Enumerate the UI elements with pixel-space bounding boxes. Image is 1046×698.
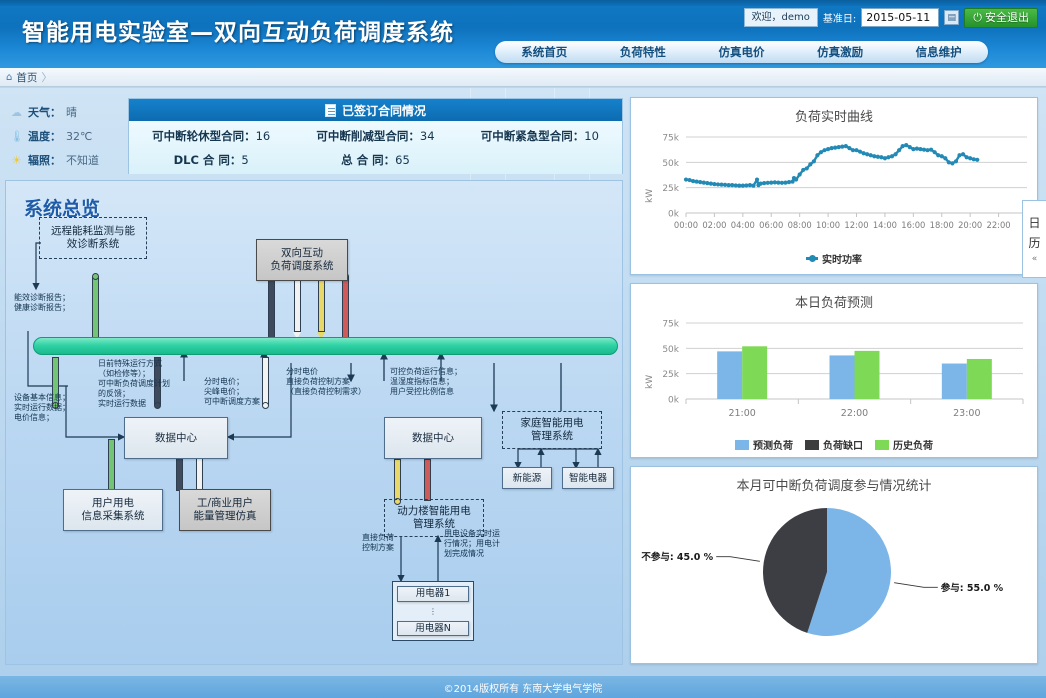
- chart-card-load-forecast: 本日负荷预测 kW 0k25k50k75k21:0022:0023:00 预测负…: [630, 283, 1038, 458]
- legend-swatch-forecast: [735, 440, 749, 450]
- box-power-building-system-label: 动力楼智能用电 管理系统: [397, 505, 471, 531]
- svg-text:00:00: 00:00: [674, 220, 698, 230]
- svg-text:50k: 50k: [662, 345, 679, 355]
- svg-text:18:00: 18:00: [930, 220, 954, 230]
- box-smart-appliance[interactable]: 智能电器: [562, 467, 614, 489]
- logout-label: 安全退出: [985, 11, 1029, 25]
- box-home-smart-power-system-label: 家庭智能用电 管理系统: [521, 417, 584, 443]
- svg-text:25k: 25k: [662, 184, 679, 194]
- contract-rotational: 可中断轮休型合同：16: [129, 124, 293, 148]
- chart-plot-load-forecast: kW 0k25k50k75k21:0022:0023:00: [631, 311, 1039, 429]
- note-diagnosis-reports: 能效诊断报告； 健康诊断报告；: [14, 293, 84, 313]
- svg-text:0k: 0k: [668, 210, 680, 220]
- base-date-input[interactable]: 2015-05-11: [861, 8, 939, 27]
- chart-legend-realtime-load: 实时功率: [631, 251, 1037, 266]
- irradiance-label: 辐照：: [28, 152, 61, 168]
- box-data-center-left-label: 数据中心: [155, 432, 197, 445]
- contract-spacer: [458, 148, 622, 172]
- legend-item-history-load[interactable]: 历史负荷: [875, 437, 933, 452]
- nav-item-load-char[interactable]: 负荷特性: [594, 44, 693, 60]
- breadcrumb-separator: 〉: [41, 69, 52, 85]
- box-bidirectional-dispatch[interactable]: 双向互动 负荷调度系统: [256, 239, 348, 281]
- contract-rotational-value: 16: [256, 129, 271, 143]
- bus-pin-yellow: [318, 277, 325, 332]
- legend-label-realtime-power: 实时功率: [822, 251, 862, 266]
- copyright-text: ©2014版权所有 东南大学电气学院: [444, 680, 603, 695]
- main-navigation: 系统首页 负荷特性 仿真电价 仿真激励 信息维护: [495, 41, 988, 63]
- bus-pin-green-left: [92, 277, 99, 339]
- legend-label-history-load: 历史负荷: [893, 437, 933, 452]
- svg-text:23:00: 23:00: [953, 408, 980, 419]
- legend-marker-line: [806, 257, 818, 260]
- svg-text:10:00: 10:00: [816, 220, 840, 230]
- box-industrial-energy-sim[interactable]: 工/商业用户 能量管理仿真: [179, 489, 271, 531]
- calendar-icon[interactable]: ▤: [944, 10, 959, 25]
- welcome-label: 欢迎，demo: [744, 8, 818, 27]
- contract-row-1: 可中断轮休型合同：16 可中断削减型合同：34 可中断紧急型合同：10: [129, 124, 622, 148]
- exit-icon: ⏻: [973, 11, 982, 25]
- contract-total-value: 65: [395, 153, 410, 167]
- home-icon: ⌂: [6, 72, 12, 83]
- box-data-center-left[interactable]: 数据中心: [124, 417, 228, 459]
- weather-panel: ☁ 天气： 晴 🌡 温度： 32℃ ☀ 辐照： 不知道: [4, 97, 124, 175]
- legend-item-realtime-power[interactable]: 实时功率: [806, 251, 862, 266]
- svg-text:16:00: 16:00: [901, 220, 925, 230]
- bus-pin-white: [294, 277, 301, 332]
- svg-text:75k: 75k: [662, 134, 679, 144]
- contract-panel: 已签订合同情况 可中断轮休型合同：16 可中断削减型合同：34 可中断紧急型合同…: [128, 98, 623, 174]
- contract-emergency-label: 可中断紧急型合同：: [481, 129, 585, 143]
- contract-emergency-value: 10: [584, 129, 599, 143]
- base-date-label: 基准日:: [823, 10, 856, 25]
- svg-text:25k: 25k: [662, 370, 679, 380]
- breadcrumb-home[interactable]: 首页: [16, 70, 37, 85]
- note-tou-direct-control: 分时电价 直接负荷控制方案 （直接负荷控制需求）: [286, 367, 370, 397]
- chart-legend-load-forecast: 预测负荷 负荷缺口 历史负荷: [631, 437, 1037, 452]
- calendar-tab-char-1: 日: [1028, 214, 1040, 231]
- note-tou-price-left: 分时电价； 尖峰电价； 可中断调度方案: [204, 377, 282, 407]
- box-appliance-group: 用电器1 ⋮ 用电器N: [392, 581, 474, 641]
- contract-total: 总 合 同：65: [293, 148, 457, 172]
- temperature-label: 温度：: [28, 128, 61, 144]
- weather-label: 天气：: [28, 104, 61, 120]
- weather-row-temperature: 🌡 温度： 32℃: [10, 128, 124, 144]
- legend-swatch-history: [875, 440, 889, 450]
- svg-text:50k: 50k: [662, 159, 679, 169]
- svg-text:参与: 55.0 %: 参与: 55.0 %: [940, 582, 1004, 594]
- page-title: 智能用电实验室—双向互动负荷调度系统: [22, 13, 454, 47]
- svg-text:0k: 0k: [668, 396, 680, 406]
- box-appliance-n-label: 用电器N: [415, 622, 451, 635]
- svg-text:22:00: 22:00: [987, 220, 1011, 230]
- box-appliance-n[interactable]: 用电器N: [397, 621, 469, 637]
- system-overview-diagram: 系统总览: [5, 180, 623, 665]
- chart-ylabel-realtime-load: kW: [645, 189, 655, 203]
- contract-row-2: DLC 合 同：5 总 合 同：65: [129, 148, 622, 172]
- contract-dlc-value: 5: [241, 153, 248, 167]
- document-icon: [325, 104, 336, 117]
- chart-title-realtime-load: 负荷实时曲线: [631, 98, 1037, 125]
- weather-row-condition: ☁ 天气： 晴: [10, 104, 124, 120]
- svg-text:75k: 75k: [662, 320, 679, 330]
- chart-title-load-forecast: 本日负荷预测: [631, 284, 1037, 311]
- legend-item-forecast-load[interactable]: 预测负荷: [735, 437, 793, 452]
- pin-collect-green: [108, 439, 115, 491]
- chart-svg-load-forecast: 0k25k50k75k21:0022:0023:00: [631, 311, 1039, 429]
- nav-item-home[interactable]: 系统首页: [495, 44, 594, 60]
- svg-text:21:00: 21:00: [728, 408, 755, 419]
- user-toolbar: 欢迎，demo 基准日: 2015-05-11 ▤ ⏻ 安全退出: [744, 8, 1038, 27]
- legend-item-load-gap[interactable]: 负荷缺口: [805, 437, 863, 452]
- nav-item-sim-incentive[interactable]: 仿真激励: [791, 44, 890, 60]
- contract-emergency: 可中断紧急型合同：10: [458, 124, 622, 148]
- page-footer: ©2014版权所有 东南大学电气学院: [0, 676, 1046, 698]
- legend-label-forecast-load: 预测负荷: [753, 437, 793, 452]
- note-device-info: 设备基本信息； 实时运行数据； 电价信息；: [14, 393, 84, 423]
- box-smart-appliance-label: 智能电器: [569, 472, 607, 485]
- bus-pin-red: [342, 277, 349, 339]
- contract-rotational-label: 可中断轮休型合同：: [152, 129, 256, 143]
- temperature-value: 32℃: [66, 130, 92, 143]
- chart-card-realtime-load: 负荷实时曲线 kW 0k25k50k75k00:0002:0004:0006:0…: [630, 97, 1038, 275]
- svg-text:02:00: 02:00: [702, 220, 726, 230]
- nav-item-sim-price[interactable]: 仿真电价: [692, 44, 791, 60]
- svg-text:22:00: 22:00: [841, 408, 868, 419]
- thermometer-icon: 🌡: [10, 130, 23, 143]
- weather-row-irradiance: ☀ 辐照： 不知道: [10, 152, 124, 168]
- box-bidirectional-dispatch-label: 双向互动 负荷调度系统: [271, 247, 334, 273]
- legend-swatch-gap: [805, 440, 819, 450]
- contract-total-label: 总 合 同：: [341, 153, 395, 167]
- chart-title-participation: 本月可中断负荷调度参与情况统计: [631, 467, 1037, 494]
- weather-value: 晴: [66, 104, 77, 120]
- app-header: 智能用电实验室—双向互动负荷调度系统 欢迎，demo 基准日: 2015-05-…: [0, 0, 1046, 68]
- chart-ylabel-load-forecast: kW: [645, 375, 655, 389]
- chart-svg-realtime-load: 0k25k50k75k00:0002:0004:0006:0008:0010:0…: [631, 125, 1039, 245]
- breadcrumb: ⌂ 首页 〉: [0, 68, 1046, 87]
- box-new-energy-label: 新能源: [513, 472, 542, 485]
- box-data-center-right[interactable]: 数据中心: [384, 417, 482, 459]
- logout-button[interactable]: ⏻ 安全退出: [964, 8, 1038, 28]
- box-remote-energy-monitor[interactable]: 远程能耗监测与能 效诊断系统: [39, 217, 147, 259]
- contract-panel-title: 已签订合同情况: [342, 102, 426, 119]
- chart-card-participation: 本月可中断负荷调度参与情况统计 参与: 55.0 %不参与: 45.0 %: [630, 466, 1038, 664]
- box-home-smart-power-system[interactable]: 家庭智能用电 管理系统: [502, 411, 602, 449]
- svg-text:08:00: 08:00: [788, 220, 812, 230]
- contract-curtail-label: 可中断削减型合同：: [316, 129, 420, 143]
- nav-item-info-maint[interactable]: 信息维护: [889, 44, 988, 60]
- svg-text:06:00: 06:00: [759, 220, 783, 230]
- chart-svg-participation: 参与: 55.0 %不参与: 45.0 %: [631, 494, 1039, 662]
- box-user-info-collection-label: 用户用电 信息采集系统: [82, 497, 145, 523]
- note-day-ahead-mode: 日前特殊运行方式 （如检修等）； 可中断负荷调度计划 的反馈； 实时运行数据: [98, 359, 194, 409]
- svg-text:12:00: 12:00: [844, 220, 868, 230]
- cloud-icon: ☁: [10, 106, 23, 119]
- system-bus: [33, 337, 618, 355]
- contract-panel-header: 已签订合同情况: [129, 99, 622, 121]
- chevron-left-icon[interactable]: «: [1032, 254, 1038, 264]
- note-controllable-load-info: 可控负荷运行信息； 温湿度指标信息； 用户受控比例信息: [390, 367, 486, 397]
- contract-curtail: 可中断削减型合同：34: [293, 124, 457, 148]
- sun-icon: ☀: [10, 154, 23, 167]
- svg-text:20:00: 20:00: [958, 220, 982, 230]
- note-appliance-runtime: 用电设备实时运 行情况；用电计 划完成情况: [444, 529, 520, 559]
- calendar-side-tab[interactable]: 日 历 «: [1022, 200, 1046, 278]
- contract-panel-body: 可中断轮休型合同：16 可中断削减型合同：34 可中断紧急型合同：10 DLC …: [129, 121, 622, 174]
- svg-text:04:00: 04:00: [731, 220, 755, 230]
- application-root: 智能用电实验室—双向互动负荷调度系统 欢迎，demo 基准日: 2015-05-…: [0, 0, 1046, 698]
- svg-text:不参与: 45.0 %: 不参与: 45.0 %: [641, 551, 713, 563]
- contract-curtail-value: 34: [420, 129, 435, 143]
- box-appliance-1-label: 用电器1: [416, 587, 451, 600]
- irradiance-value: 不知道: [66, 152, 99, 168]
- box-user-info-collection[interactable]: 用户用电 信息采集系统: [63, 489, 163, 531]
- contract-dlc: DLC 合 同：5: [129, 148, 293, 172]
- pin-power-yellow: [394, 459, 401, 501]
- pin-power-red: [424, 459, 431, 501]
- legend-label-load-gap: 负荷缺口: [823, 437, 863, 452]
- note-direct-load-control: 直接负荷 控制方案: [362, 533, 406, 553]
- contract-dlc-label: DLC 合 同：: [174, 153, 242, 167]
- chart-plot-realtime-load: kW 0k25k50k75k00:0002:0004:0006:0008:001…: [631, 125, 1039, 245]
- appliance-dots: ⋮: [429, 605, 437, 618]
- box-industrial-energy-sim-label: 工/商业用户 能量管理仿真: [194, 497, 257, 523]
- box-remote-energy-monitor-label: 远程能耗监测与能 效诊断系统: [51, 225, 135, 251]
- box-appliance-1[interactable]: 用电器1: [397, 586, 469, 602]
- calendar-tab-char-2: 历: [1028, 234, 1040, 251]
- svg-text:14:00: 14:00: [873, 220, 897, 230]
- box-new-energy[interactable]: 新能源: [502, 467, 552, 489]
- box-data-center-right-label: 数据中心: [412, 432, 454, 445]
- bus-pin-dark: [268, 277, 275, 339]
